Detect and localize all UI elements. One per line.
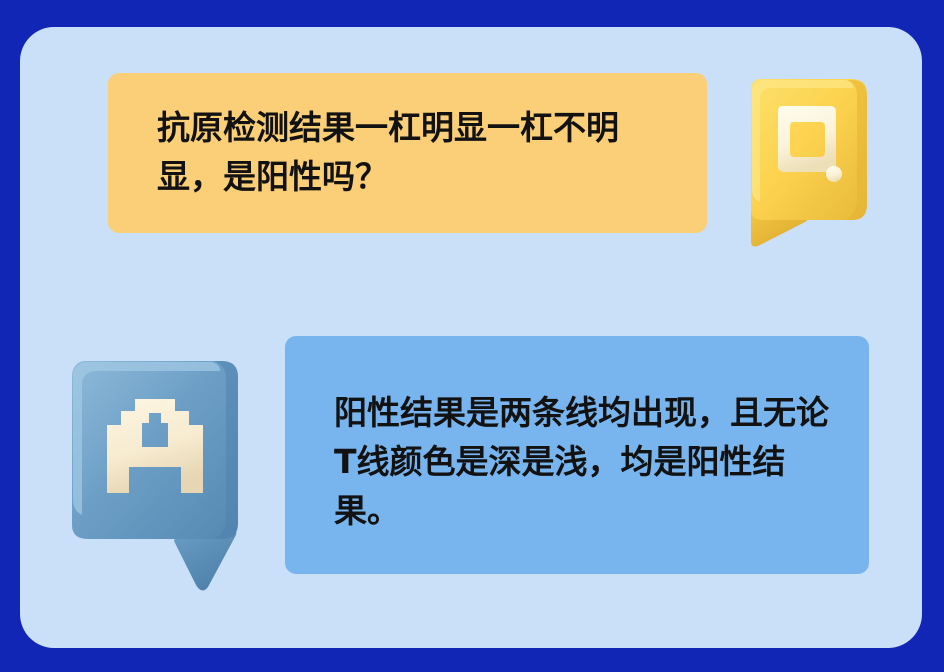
- a-speech-bubble-icon: [62, 343, 252, 593]
- qa-card: 抗原检测结果一杠明显一杠不明显，是阳性吗？: [0, 0, 944, 672]
- answer-text: 阳性结果是两条线均出现，且无论T线颜色是深是浅，均是阳性结果。: [334, 388, 845, 535]
- content-panel: 抗原检测结果一杠明显一杠不明显，是阳性吗？: [20, 27, 922, 648]
- q-speech-bubble-icon: [733, 62, 873, 247]
- question-text: 抗原检测结果一杠明显一杠不明显，是阳性吗？: [157, 103, 681, 201]
- answer-bubble: 阳性结果是两条线均出现，且无论T线颜色是深是浅，均是阳性结果。: [285, 336, 869, 574]
- question-bubble: 抗原检测结果一杠明显一杠不明显，是阳性吗？: [108, 73, 707, 233]
